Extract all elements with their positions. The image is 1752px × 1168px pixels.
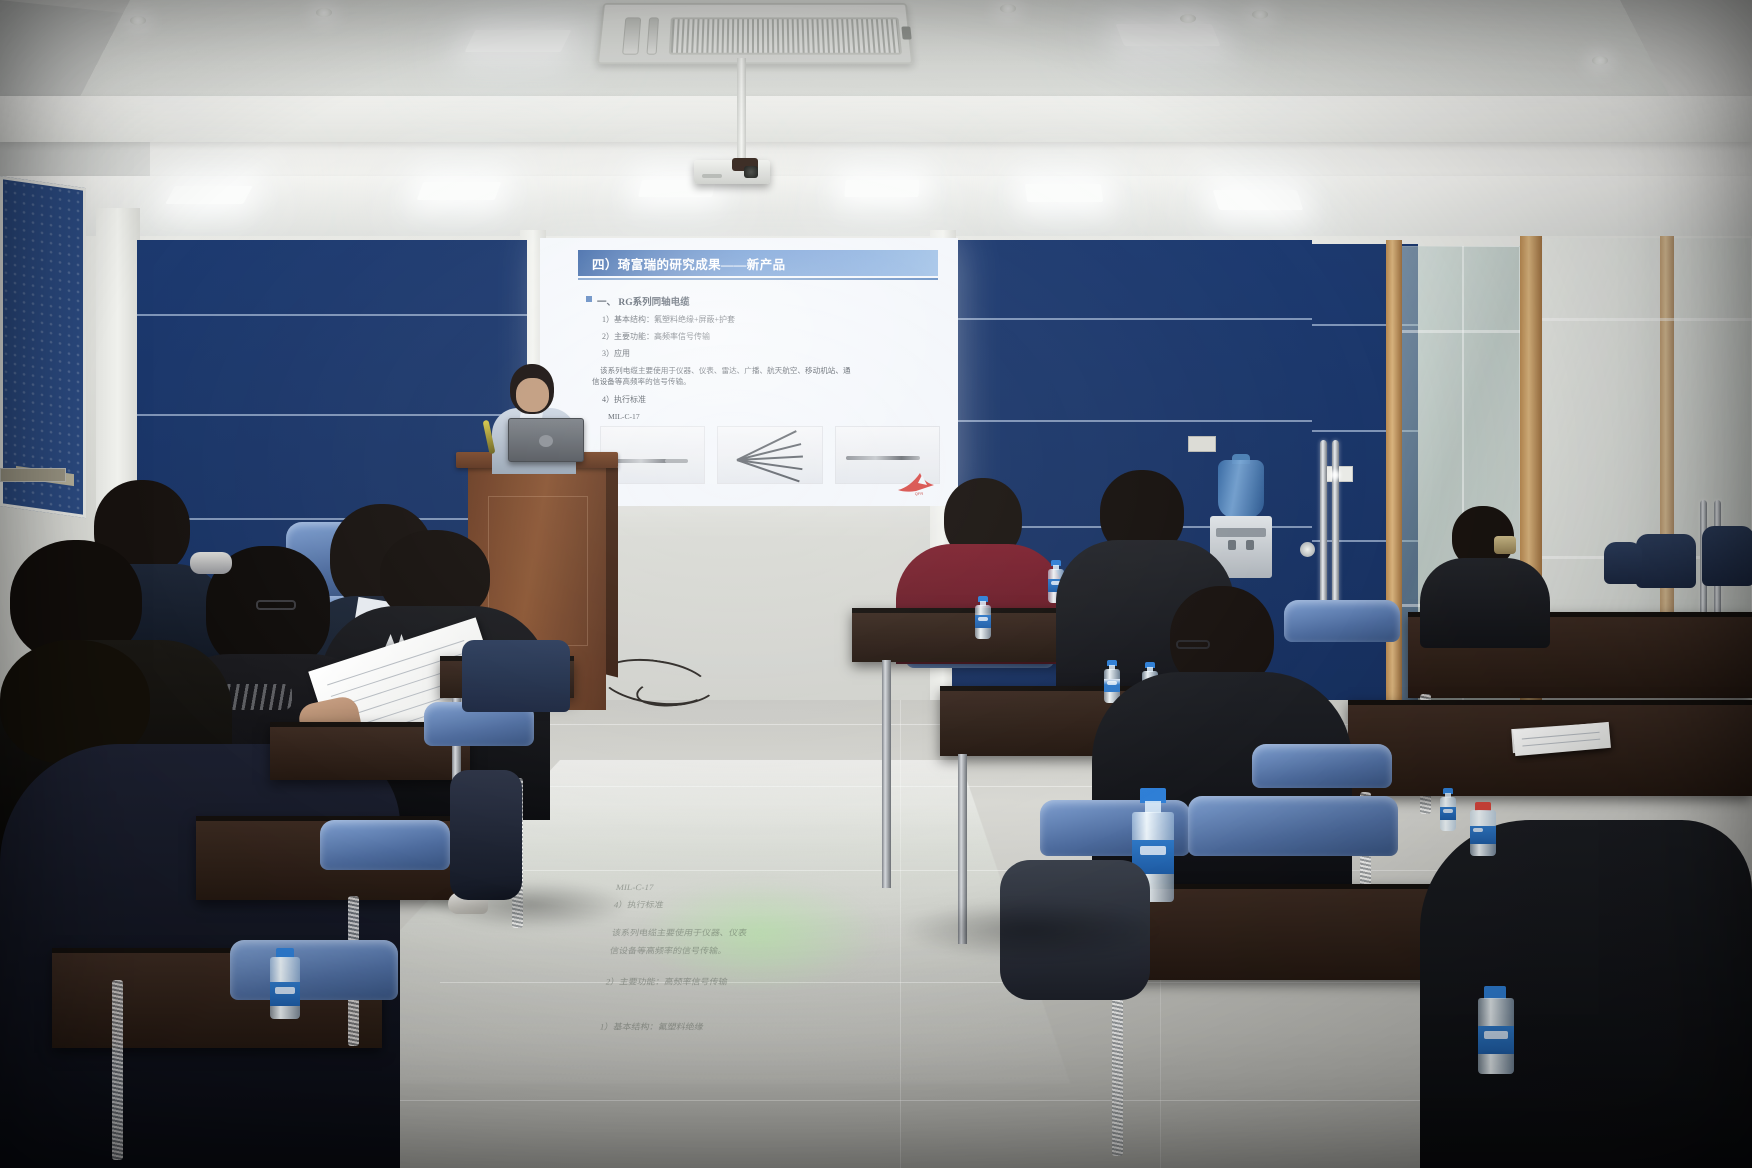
door-light-reflection bbox=[1330, 470, 1340, 480]
slide-title: 四）琦富瑞的研究成果——新产品 bbox=[578, 254, 786, 273]
chair-left-3 bbox=[230, 940, 398, 1000]
slide-picture-2 bbox=[717, 426, 822, 484]
wall-seam bbox=[952, 318, 1312, 320]
desk-leg bbox=[882, 660, 891, 888]
chair-right-4 bbox=[1188, 796, 1398, 856]
ac-vent-slot bbox=[622, 17, 641, 54]
glass-mullion bbox=[1542, 318, 1752, 321]
slide-line-1: 1）基本结构：氟塑料绝缘+屏蔽+护套 bbox=[602, 315, 946, 325]
shadow bbox=[900, 900, 1160, 960]
ceiling bbox=[0, 0, 1752, 250]
panel-light bbox=[1213, 190, 1303, 210]
chair-left-4 bbox=[462, 640, 570, 712]
floor-reflection-line: 1）基本结构：氟塑料绝缘 bbox=[599, 1021, 705, 1033]
slide-sub-text-1: 该系列电缆主要使用于仪器、仪表、雷达、广播、航天航空、移动机站、通 bbox=[600, 366, 946, 376]
chalkboard-left bbox=[0, 468, 66, 482]
presenter-face bbox=[516, 378, 549, 412]
body bbox=[1420, 558, 1550, 648]
downlight bbox=[130, 16, 146, 25]
wall-seam bbox=[137, 314, 527, 316]
slide-line-4: 4）执行标准 bbox=[602, 395, 946, 405]
bottle-label bbox=[1478, 1026, 1514, 1054]
glass-mullion bbox=[1402, 330, 1520, 333]
glass-frame-post-1 bbox=[1386, 240, 1402, 730]
water-tap-hot[interactable] bbox=[1246, 540, 1254, 550]
downlight bbox=[1252, 10, 1268, 19]
desk-leg bbox=[1112, 976, 1123, 1156]
shadow bbox=[430, 880, 630, 930]
ac-vent-slot bbox=[646, 17, 659, 54]
panel-light bbox=[844, 180, 919, 197]
slide-standard: MIL-C-17 bbox=[608, 412, 946, 422]
slide-heading-row: 一、 RG系列同轴电缆 bbox=[586, 294, 946, 308]
slide-title-rule bbox=[578, 278, 938, 280]
panel-light bbox=[165, 186, 253, 204]
bottle-label bbox=[1470, 826, 1496, 844]
floor-reflection-line: 该系列电缆主要使用于仪器、仪表 bbox=[611, 927, 748, 939]
wall-seam bbox=[952, 420, 1312, 422]
bottle-label bbox=[975, 615, 991, 628]
floor-reflection-line: 2）主要功能：高频率信号传输 bbox=[605, 976, 729, 988]
far-room-chair-1 bbox=[1636, 534, 1696, 588]
hair-clip-icon bbox=[1494, 536, 1516, 554]
downlight bbox=[1000, 4, 1016, 13]
slide-line-3: 3）应用 bbox=[602, 349, 946, 359]
slide-bullet-icon bbox=[586, 296, 592, 302]
far-room-chair-2 bbox=[1702, 526, 1752, 586]
downlight bbox=[1592, 56, 1608, 65]
eyeglasses-icon bbox=[256, 600, 296, 610]
ceiling-band-1 bbox=[0, 96, 1752, 142]
door-lock-icon bbox=[1300, 542, 1315, 557]
chair-left-2 bbox=[320, 820, 450, 870]
eyeglasses-icon bbox=[1176, 640, 1210, 649]
air-conditioner-unit bbox=[597, 3, 914, 64]
ac-grille bbox=[669, 17, 902, 54]
cable-end-image bbox=[846, 456, 920, 460]
panel-light bbox=[1116, 24, 1221, 46]
cable-braid-image bbox=[737, 444, 803, 475]
floor-reflection-line: 信设备等高频率的信号传输。 bbox=[609, 945, 728, 957]
laptop-logo-icon bbox=[539, 435, 553, 447]
bottle-label bbox=[270, 982, 300, 1006]
slide-body: 一、 RG系列同轴电缆 1）基本结构：氟塑料绝缘+屏蔽+护套 2）主要功能：高频… bbox=[586, 290, 946, 422]
slide-sub-text-2: 信设备等高频率的信号传输。 bbox=[592, 377, 946, 387]
slide-line-2: 2）主要功能：高频率信号传输 bbox=[602, 332, 946, 342]
slide-title-bar: 四）琦富瑞的研究成果——新产品 bbox=[578, 250, 938, 276]
slide-picture-row bbox=[600, 426, 940, 484]
downlight bbox=[316, 8, 332, 17]
glass-frame-post-3 bbox=[1660, 236, 1674, 676]
far-room-chair-3 bbox=[1604, 542, 1642, 584]
wall-seam bbox=[137, 414, 527, 416]
wall-panel-plate bbox=[1188, 436, 1216, 452]
downlight bbox=[1180, 14, 1196, 23]
panel-light bbox=[417, 182, 502, 200]
panel-light bbox=[1025, 184, 1104, 202]
projector-lens-icon bbox=[744, 166, 758, 178]
coax-cable-tip bbox=[665, 459, 688, 463]
audience-far-right bbox=[1420, 506, 1550, 636]
wall-texture-board bbox=[0, 176, 86, 518]
chair-right-5 bbox=[1252, 744, 1392, 788]
projector-mount-pole bbox=[737, 58, 746, 166]
body bbox=[1420, 820, 1752, 1168]
desk-leg bbox=[112, 980, 123, 1160]
laptop bbox=[508, 418, 584, 462]
panel-light bbox=[465, 30, 572, 52]
desk-right-1 bbox=[852, 608, 1062, 662]
ac-indicator bbox=[901, 27, 911, 40]
slide-heading: 一、 RG系列同轴电缆 bbox=[597, 294, 690, 308]
conference-room-photo: 四）琦富瑞的研究成果——新产品 一、 RG系列同轴电缆 1）基本结构：氟塑料绝缘… bbox=[0, 0, 1752, 1168]
podium-side bbox=[606, 465, 618, 678]
